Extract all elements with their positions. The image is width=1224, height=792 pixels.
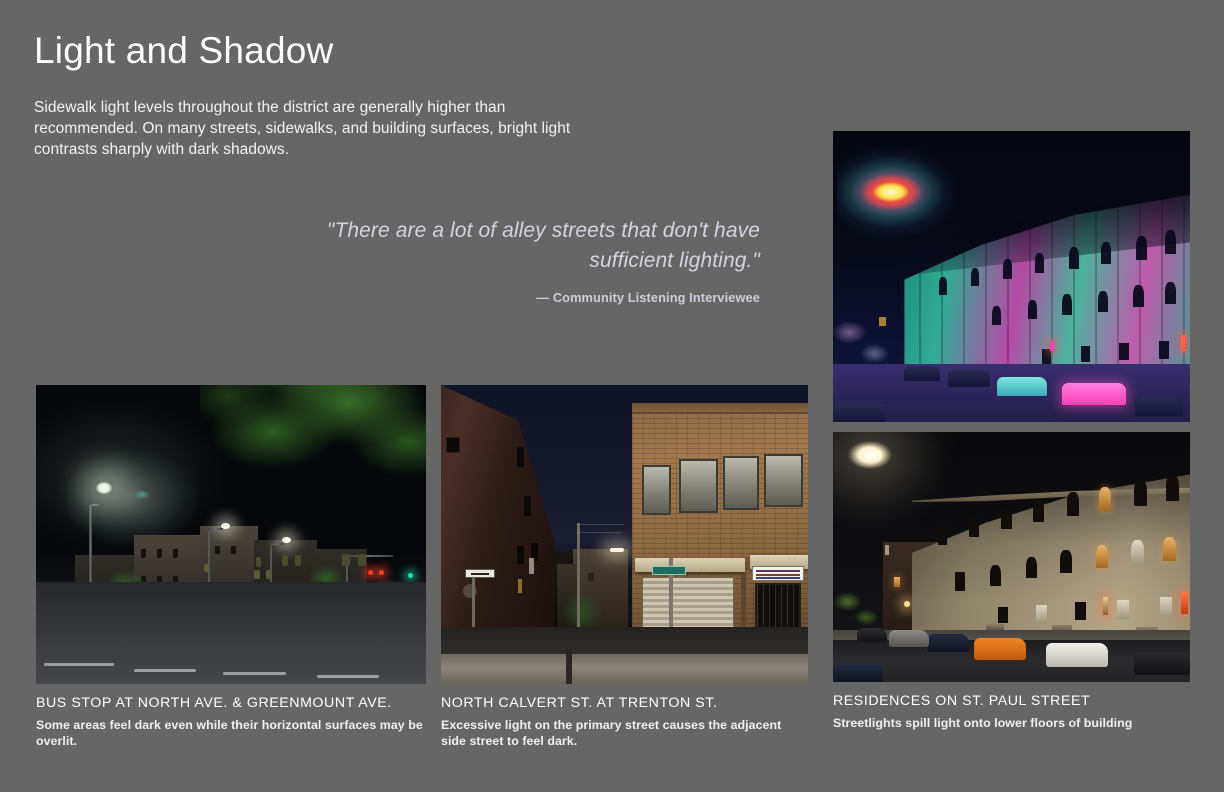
caption-body: Some areas feel dark even while their ho…	[36, 718, 426, 749]
storefront-sign	[752, 566, 805, 581]
figure-st-paul-heatmap	[833, 131, 1190, 422]
photo-residences-art	[833, 432, 1190, 682]
streetlight-bulb	[95, 481, 113, 495]
car	[833, 664, 883, 682]
photo-st-paul-residences	[833, 432, 1190, 682]
photo-bus-stop-art	[36, 385, 426, 684]
figure-north-calvert: NORTH CALVERT ST. AT TRENTON ST. Excessi…	[441, 385, 808, 749]
car	[1134, 652, 1190, 675]
caption-title: RESIDENCES ON ST. PAUL STREET	[833, 693, 1190, 709]
photo-north-calvert	[441, 385, 808, 684]
intro-paragraph: Sidewalk light levels throughout the dis…	[34, 97, 594, 160]
lit-doorway	[1181, 592, 1188, 614]
caption-title: NORTH CALVERT ST. AT TRENTON ST.	[441, 695, 808, 711]
car	[974, 638, 1026, 660]
street-name-sign	[652, 566, 686, 575]
car-heat	[833, 404, 885, 422]
car-heat	[1135, 396, 1183, 416]
page-title: Light and Shadow	[34, 31, 333, 72]
roadway	[36, 582, 426, 684]
car	[857, 628, 887, 642]
photo-bus-stop	[36, 385, 426, 684]
figure-bus-stop: BUS STOP AT NORTH AVE. & GREENMOUNT AVE.…	[36, 385, 426, 749]
car-heat	[997, 377, 1047, 396]
car-heat	[1062, 383, 1126, 405]
figure-caption: RESIDENCES ON ST. PAUL STREET Streetligh…	[833, 693, 1190, 732]
streetlight-halo	[67, 451, 197, 546]
caption-body: Streetlights spill light onto lower floo…	[833, 716, 1190, 732]
caption-title: BUS STOP AT NORTH AVE. & GREENMOUNT AVE.	[36, 695, 426, 711]
pull-quote: "There are a lot of alley streets that d…	[300, 216, 760, 305]
photo-heatmap-art	[833, 131, 1190, 422]
lens-flare	[134, 490, 150, 499]
figure-st-paul-residences: RESIDENCES ON ST. PAUL STREET Streetligh…	[833, 432, 1190, 732]
tree-canopy	[200, 385, 426, 511]
left-brick-building	[441, 385, 555, 660]
figure-caption: NORTH CALVERT ST. AT TRENTON ST. Excessi…	[441, 695, 808, 749]
photo-north-calvert-art	[441, 385, 808, 684]
figure-caption: BUS STOP AT NORTH AVE. & GREENMOUNT AVE.…	[36, 695, 426, 749]
car-heat	[948, 370, 990, 387]
car	[1046, 643, 1108, 667]
quote-attribution: — Community Listening Interviewee	[300, 290, 760, 305]
streetlight-glow	[847, 440, 893, 470]
luminance-hotspot	[837, 143, 957, 241]
photo-st-paul-heatmap	[833, 131, 1190, 422]
car-heat	[904, 366, 940, 381]
car	[889, 630, 929, 647]
one-way-sign	[465, 569, 495, 578]
car	[927, 634, 969, 652]
slide-root: Light and Shadow Sidewalk light levels t…	[0, 0, 1224, 792]
caption-body: Excessive light on the primary street ca…	[441, 718, 808, 749]
quote-text: "There are a lot of alley streets that d…	[300, 216, 760, 276]
